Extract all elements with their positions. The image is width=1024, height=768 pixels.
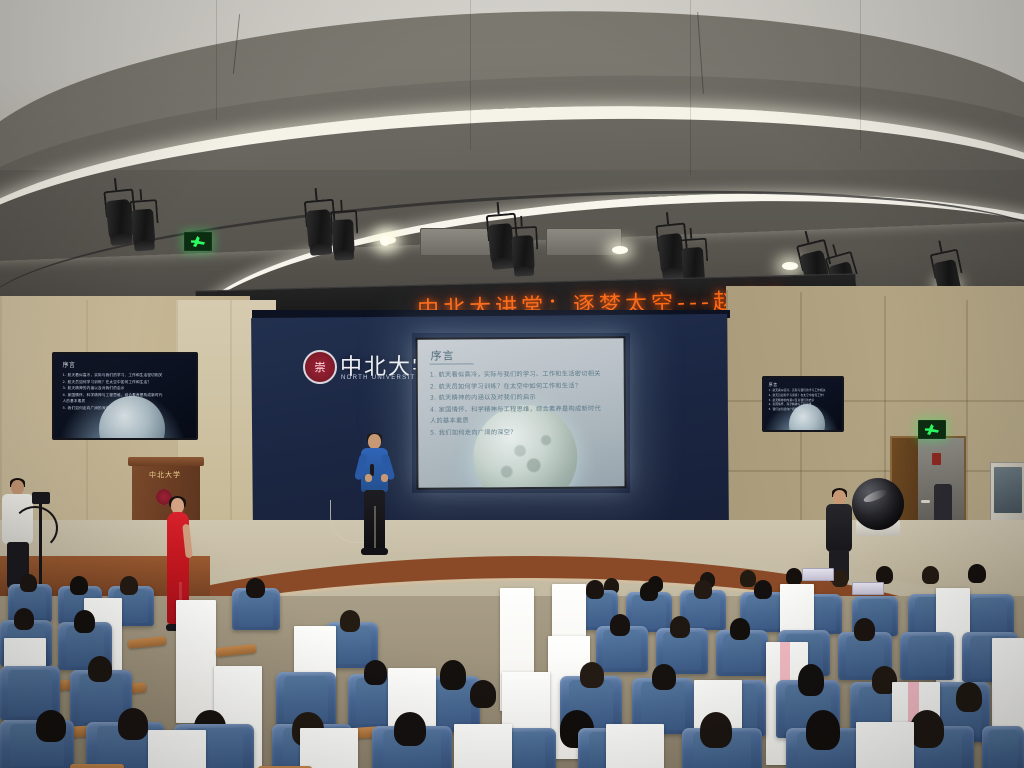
podium-top — [128, 457, 204, 466]
seat-banner: 校企合作促发展 共建共赢谱新篇 — [300, 728, 358, 768]
university-seal-icon: 崇 — [303, 350, 337, 384]
right-wall-monitor: 序言 1. 航天看似高冷，实际与我们的学习工作相关 2. 航天员如何学习训练？在… — [762, 376, 844, 432]
seat-banner: 校企合作促发展 共建共赢谱新篇 — [176, 600, 216, 723]
slide-bullet-list: 1. 航天看似高冷，实际与我们的学习、工作和生活密切相关 2. 航天员如何学习训… — [430, 368, 618, 439]
audience-head — [700, 712, 732, 748]
audience-head — [340, 610, 360, 632]
auditorium-photo: 中北大讲堂：逐梦太空---赵传东 崇 中北大学 NORTH UNIVERSITY… — [0, 0, 1024, 768]
audience-head — [694, 580, 712, 599]
audience-head-ponytail — [440, 660, 466, 690]
audience-head-ponytail — [806, 710, 840, 750]
exit-sign-icon — [918, 420, 946, 439]
audience-head — [20, 574, 37, 592]
seat-banner: 校企合作促发展 共建共赢谱新篇 — [454, 724, 512, 768]
seat-banner: 校企合作促发展 共建共赢谱新篇 — [148, 730, 206, 768]
audience-head-ponytail — [798, 664, 824, 696]
audience-head — [118, 708, 148, 740]
left-wall-monitor: 序言 1. 航天看似高冷，实际与我们的学习、工作和生活密切相关 2. 航天员如何… — [52, 352, 198, 440]
audience-head — [730, 618, 750, 640]
audience-head — [754, 580, 772, 599]
audience-head — [120, 576, 138, 595]
audience-head — [832, 570, 848, 587]
wall-panel-seam — [726, 470, 1024, 472]
seat — [900, 632, 954, 680]
audience-head — [740, 570, 756, 587]
audience-head — [14, 608, 34, 630]
seat-armrest — [128, 636, 167, 649]
desk-nameplate — [852, 582, 884, 595]
audience-head — [586, 580, 604, 599]
audience-head — [470, 680, 496, 708]
monitor-line: 5. 我们如何走向广阔的深空？ — [769, 408, 838, 413]
audience-head — [652, 664, 676, 690]
audience-head — [910, 710, 944, 748]
projection-screen: 序言 1. 航天看似高冷，实际与我们的学习、工作和生活密切相关 2. 航天员如何… — [417, 338, 624, 487]
monitor-slide-title: 序言 — [769, 382, 778, 388]
monitor-slide-title: 序言 — [63, 360, 76, 369]
ceiling-seam — [860, 0, 861, 150]
audience-head — [854, 618, 875, 641]
door-handle[interactable] — [921, 500, 930, 503]
wall-panel-seam — [230, 300, 232, 550]
audience-head — [640, 582, 658, 601]
audience-head — [394, 712, 426, 746]
audience-head — [88, 656, 112, 682]
desk-nameplate — [802, 568, 834, 581]
seat — [982, 726, 1024, 768]
slide-title: 序言 — [431, 347, 455, 363]
audience-head — [246, 578, 265, 598]
wall-control-box — [932, 453, 941, 465]
video-camera — [32, 492, 50, 504]
audience-head — [580, 662, 604, 688]
monitor-slide-lines: 1. 航天看似高冷，实际与我们的学习工作相关 2. 航天员如何学习训练？在太空中… — [769, 389, 838, 412]
audience-head — [670, 616, 690, 638]
seat-banner: 校企合作促发展 共建共赢谱新篇 — [606, 724, 664, 768]
ceiling-seam — [470, 0, 471, 150]
stage-spotlight — [127, 197, 158, 252]
stage-spotlight — [508, 224, 538, 278]
audience-head — [922, 566, 939, 584]
slide-title-underline — [430, 363, 474, 364]
ceiling-seam — [690, 0, 691, 175]
sphere-prop — [852, 478, 904, 530]
exit-sign-icon — [184, 232, 212, 251]
audience-area: 校企合作促发展 共建共赢谱新篇 校企合作促发展 共建共赢谱新篇 校企合作促发展 … — [0, 560, 1024, 768]
ceiling-seam — [216, 0, 217, 120]
monitor-slide-lines: 1. 航天看似高冷，实际与我们的学习、工作和生活密切相关 2. 航天员如何学习训… — [63, 372, 189, 410]
slide-bullet: 5. 我们如何走向广阔的深空？ — [430, 426, 618, 439]
audience-head — [364, 660, 387, 685]
speaker-presenter — [356, 434, 392, 556]
seal-glyph: 崇 — [315, 362, 326, 373]
audience-head — [74, 610, 95, 633]
stage-spotlight — [328, 208, 358, 262]
podium-label: 中北大学 — [149, 470, 181, 480]
seat-armrest — [70, 764, 124, 768]
audience-head — [36, 710, 66, 742]
audience-head — [968, 564, 986, 583]
audience-head — [70, 576, 88, 595]
audience-head — [786, 568, 802, 585]
audience-head — [610, 614, 630, 636]
seat-banner: 校企合作促发展 共建共赢谱新篇 — [856, 722, 914, 768]
seat-armrest — [216, 644, 257, 657]
monitor-line: 5. 我们如何走向广阔的深空？ — [63, 405, 189, 411]
audience-head — [956, 682, 982, 712]
